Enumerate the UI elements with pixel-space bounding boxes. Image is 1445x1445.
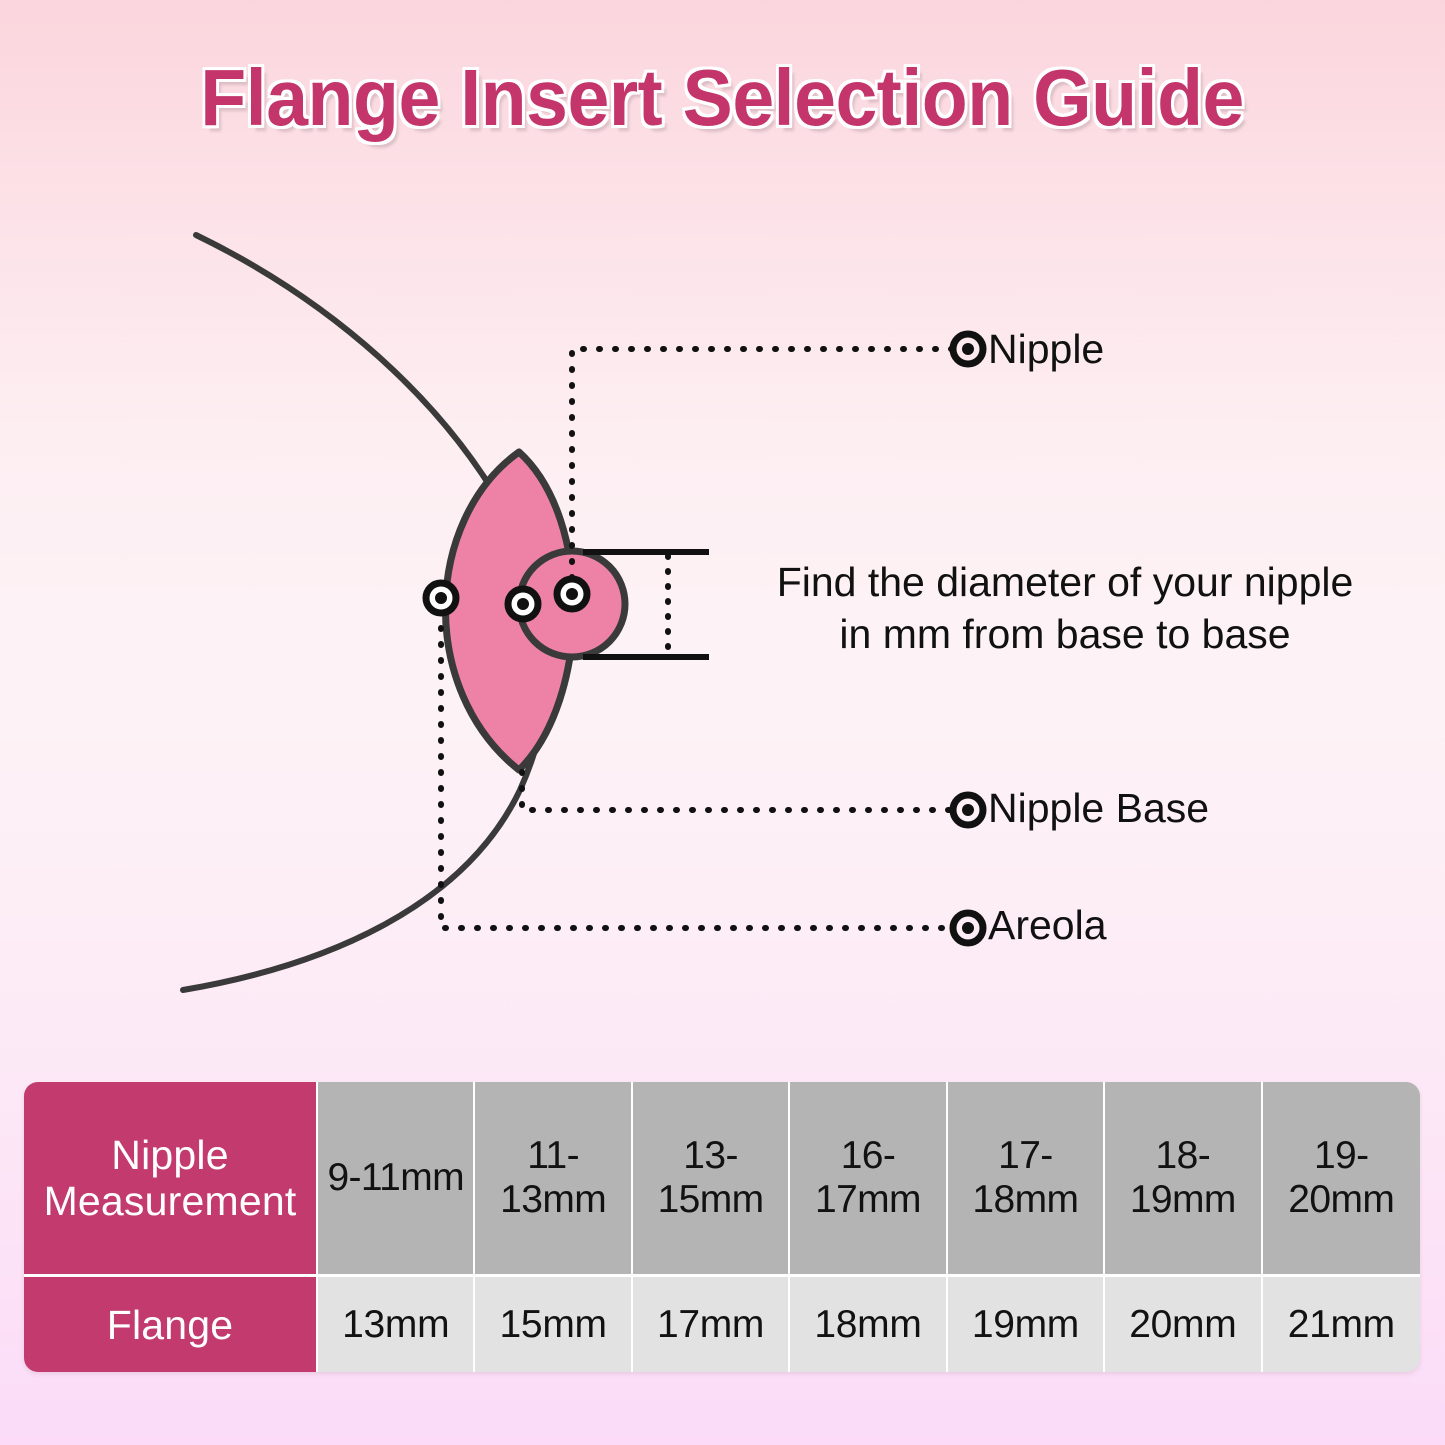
areola-edge-point-dot [435, 592, 447, 604]
measurement-cell-3: 13-15mm [633, 1082, 790, 1277]
sizing-table-container: Nipple Measurement 9-11mm 11-13mm 13-15m… [24, 1082, 1420, 1372]
nipple-base-marker-dot [962, 804, 974, 816]
nipple-base-point-dot [517, 598, 529, 610]
measurement-cell-5: 17-18mm [948, 1082, 1105, 1277]
measurement-cell-1: 9-11mm [318, 1082, 475, 1277]
flange-cell-2: 15mm [475, 1277, 632, 1372]
measurement-cell-6: 18-19mm [1105, 1082, 1262, 1277]
measurement-cell-4: 16-17mm [790, 1082, 947, 1277]
table-row-flange: Flange 13mm 15mm 17mm 18mm 19mm 20mm 21m… [24, 1277, 1420, 1372]
label-areola: Areola [988, 901, 1107, 949]
flange-cell-1: 13mm [318, 1277, 475, 1372]
flange-cell-5: 19mm [948, 1277, 1105, 1372]
flange-cell-7: 21mm [1263, 1277, 1420, 1372]
instruction-text: Find the diameter of your nipple in mm f… [735, 556, 1395, 660]
flange-cell-4: 18mm [790, 1277, 947, 1372]
nipple-point-dot [566, 588, 578, 600]
table-row-measurement: Nipple Measurement 9-11mm 11-13mm 13-15m… [24, 1082, 1420, 1277]
anatomy-diagram-svg [0, 0, 1445, 1080]
instruction-line-2: in mm from base to base [735, 608, 1395, 660]
label-nipple-base: Nipple Base [988, 784, 1209, 832]
measurement-cell-2: 11-13mm [475, 1082, 632, 1277]
instruction-line-1: Find the diameter of your nipple [735, 556, 1395, 608]
row-header-nipple-measurement: Nipple Measurement [24, 1082, 318, 1277]
row-header-flange: Flange [24, 1277, 318, 1372]
infographic-page: Flange Insert Selection Guide [0, 0, 1445, 1445]
nipple-base-leader-line [522, 772, 955, 810]
measurement-cell-7: 19-20mm [1263, 1082, 1420, 1277]
flange-cell-6: 20mm [1105, 1277, 1262, 1372]
nipple-marker-dot [962, 343, 974, 355]
flange-cell-3: 17mm [633, 1277, 790, 1372]
anatomy-diagram: Nipple Nipple Base Areola Find the diame… [0, 0, 1445, 1080]
label-nipple: Nipple [988, 325, 1104, 373]
areola-marker-dot [962, 922, 974, 934]
flange-sizing-table: Nipple Measurement 9-11mm 11-13mm 13-15m… [24, 1082, 1420, 1372]
